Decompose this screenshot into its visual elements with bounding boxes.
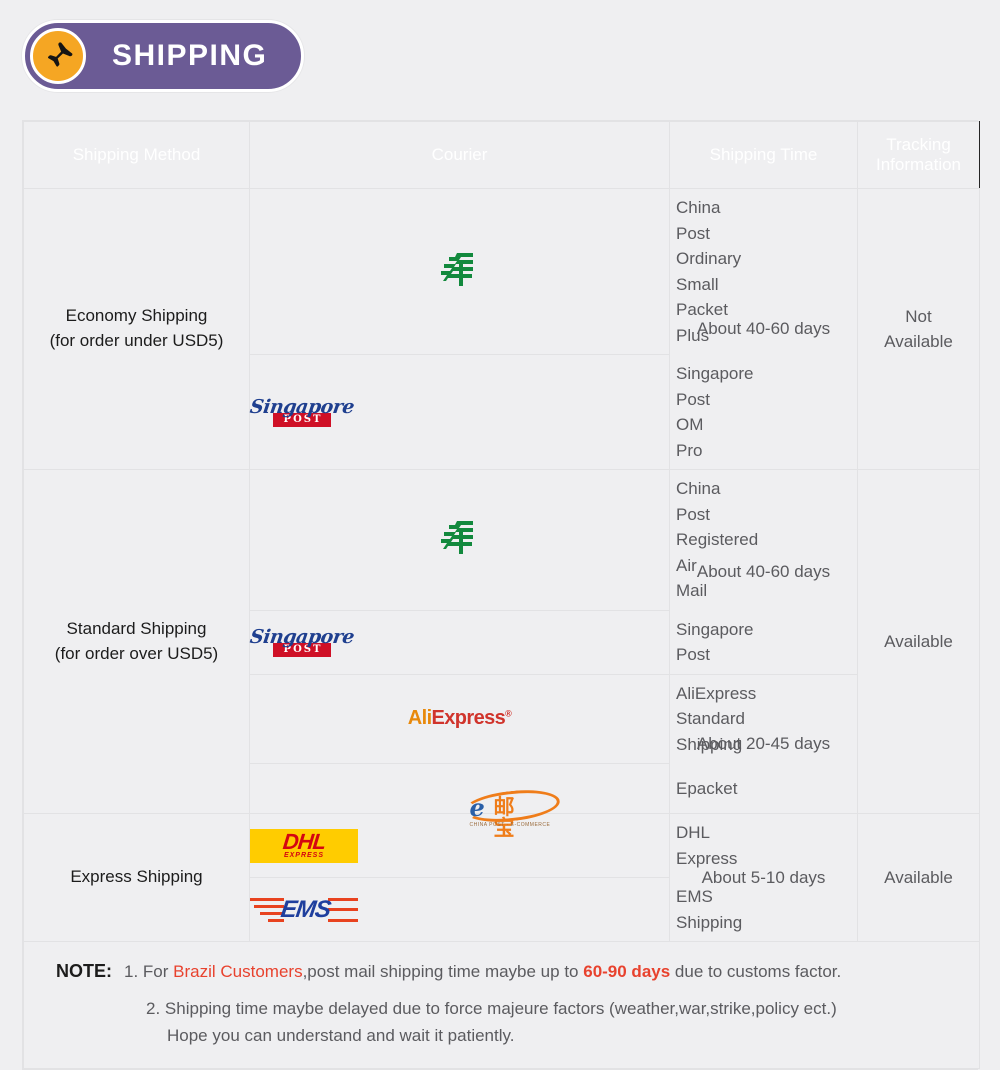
col-header-shipping-method: Shipping Method [24, 122, 250, 189]
table-row: Standard Shipping (for order over USD5) [24, 470, 980, 611]
method-label-line2: (for order over USD5) [55, 644, 218, 663]
note-item-2: 2. Shipping time maybe delayed due to fo… [24, 995, 979, 1050]
note-item-1-number: 1. [124, 962, 138, 981]
note-section: NOTE: 1. For Brazil Customers,post mail … [24, 942, 980, 1069]
singapore-post-script: Singapore [249, 398, 356, 417]
china-post-logo [250, 470, 670, 611]
aliexpress-express-text: Express [432, 707, 506, 729]
note-item-2-text: 2. Shipping time maybe delayed due to fo… [146, 999, 979, 1050]
note-item-2-number: 2. [146, 999, 160, 1018]
method-label-line2: (for order under USD5) [50, 331, 224, 350]
tracking-status: Available [858, 470, 980, 814]
shipping-table-wrapper: Shipping Method Courier Shipping Time Tr… [22, 120, 978, 1070]
note-item-2-line2: Hope you can understand and wait it pati… [146, 1022, 979, 1050]
shipping-info-page: SHIPPING Shipping Method Courier Shippin… [0, 0, 1000, 748]
ems-speed-lines-right-icon [328, 898, 362, 922]
table-header-row: Shipping Method Courier Shipping Time Tr… [24, 122, 980, 189]
note-item-1-highlight-days: 60-90 days [583, 962, 670, 981]
aliexpress-ali-text: Ali [408, 707, 432, 729]
epacket-e-text: e [470, 796, 485, 820]
page-title: SHIPPING [112, 39, 267, 73]
tracking-line1: Not [905, 307, 931, 326]
singapore-post-logo: Singapore POST [250, 610, 670, 674]
tracking-header-line1: Tracking [886, 135, 951, 154]
dhl-sub-text: EXPRESS [284, 852, 324, 859]
shipping-time-value: About 5-10 days [670, 814, 858, 942]
shipping-method-standard: Standard Shipping (for order over USD5) [24, 470, 250, 814]
shipping-header-badge: SHIPPING [22, 20, 304, 92]
epacket-chinese-text: 邮宝 [494, 797, 515, 839]
dhl-logo: DHL EXPRESS [250, 814, 670, 878]
tracking-header-line2: Information [876, 155, 961, 174]
note-item-1-highlight-brazil: Brazil Customers [173, 962, 302, 981]
note-item-1-part-b: ,post mail shipping time maybe up to [303, 962, 584, 981]
table-row: Economy Shipping (for order under USD5) [24, 189, 980, 355]
col-header-courier: Courier [250, 122, 670, 189]
note-item-1-text: 1. For Brazil Customers,post mail shippi… [124, 958, 841, 986]
note-item-1-part-a: For [143, 962, 173, 981]
shipping-table: Shipping Method Courier Shipping Time Tr… [23, 121, 980, 1069]
method-label-line1: Standard Shipping [67, 619, 207, 638]
note-item-2-line1: Shipping time maybe delayed due to force… [165, 999, 837, 1018]
china-post-logo [250, 189, 670, 355]
tracking-status: Not Available [858, 189, 980, 470]
col-header-shipping-time: Shipping Time [670, 122, 858, 189]
note-item-1: NOTE: 1. For Brazil Customers,post mail … [24, 958, 979, 986]
epacket-logo: e 邮宝 CHINA POST · E-COMMERCE [250, 764, 670, 814]
method-label-line1: Economy Shipping [66, 306, 208, 325]
note-label: NOTE: [56, 961, 112, 982]
ems-text: EMS [280, 898, 332, 922]
shipping-time-value: About 40-60 days [670, 470, 858, 675]
dhl-main-text: DHL [282, 832, 326, 852]
ems-logo: EMS [250, 878, 670, 942]
shipping-method-express: Express Shipping [24, 814, 250, 942]
singapore-post-logo: Singapore POST [250, 355, 670, 470]
tracking-status: Available [858, 814, 980, 942]
airplane-icon [30, 28, 86, 84]
col-header-tracking-information: Tracking Information [858, 122, 980, 189]
note-row: NOTE: 1. For Brazil Customers,post mail … [24, 942, 980, 1069]
note-item-1-part-c: due to customs factor. [670, 962, 841, 981]
shipping-method-economy: Economy Shipping (for order under USD5) [24, 189, 250, 470]
singapore-post-script: Singapore [249, 628, 356, 647]
registered-mark-icon: ® [505, 709, 511, 719]
aliexpress-logo: AliExpress® [250, 674, 670, 764]
tracking-line2: Available [884, 332, 953, 351]
epacket-subtitle: CHINA POST · E-COMMERCE [470, 822, 551, 828]
